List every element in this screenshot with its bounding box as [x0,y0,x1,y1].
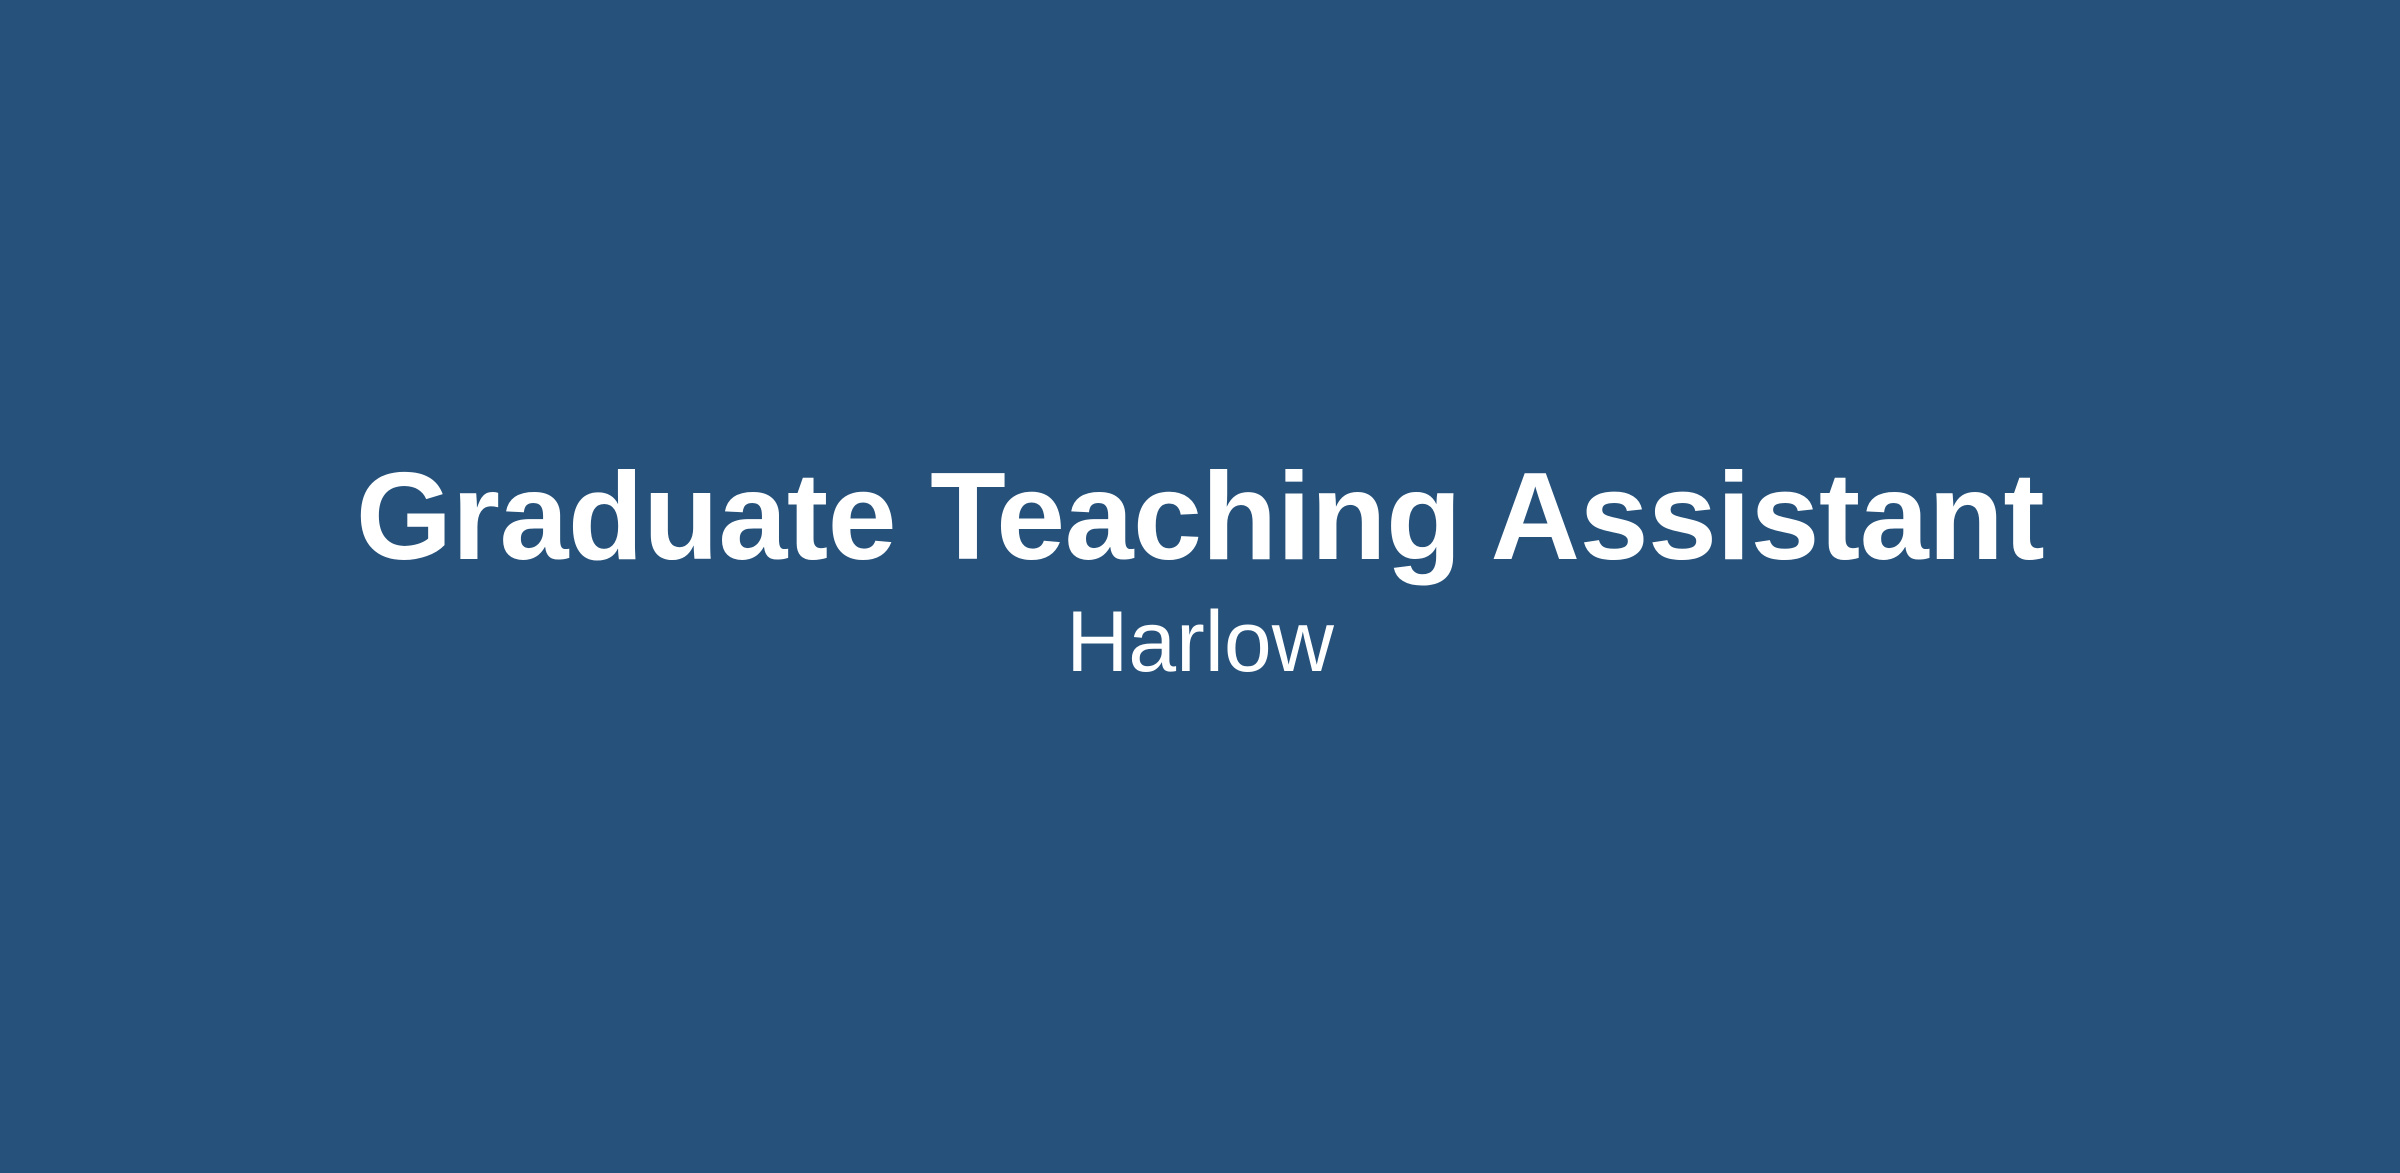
job-title: Graduate Teaching Assistant [0,455,2400,579]
job-headline-block: Graduate Teaching Assistant Harlow [0,455,2400,685]
job-location: Harlow [0,599,2400,685]
job-posting-banner: Graduate Teaching Assistant Harlow [0,0,2400,1173]
